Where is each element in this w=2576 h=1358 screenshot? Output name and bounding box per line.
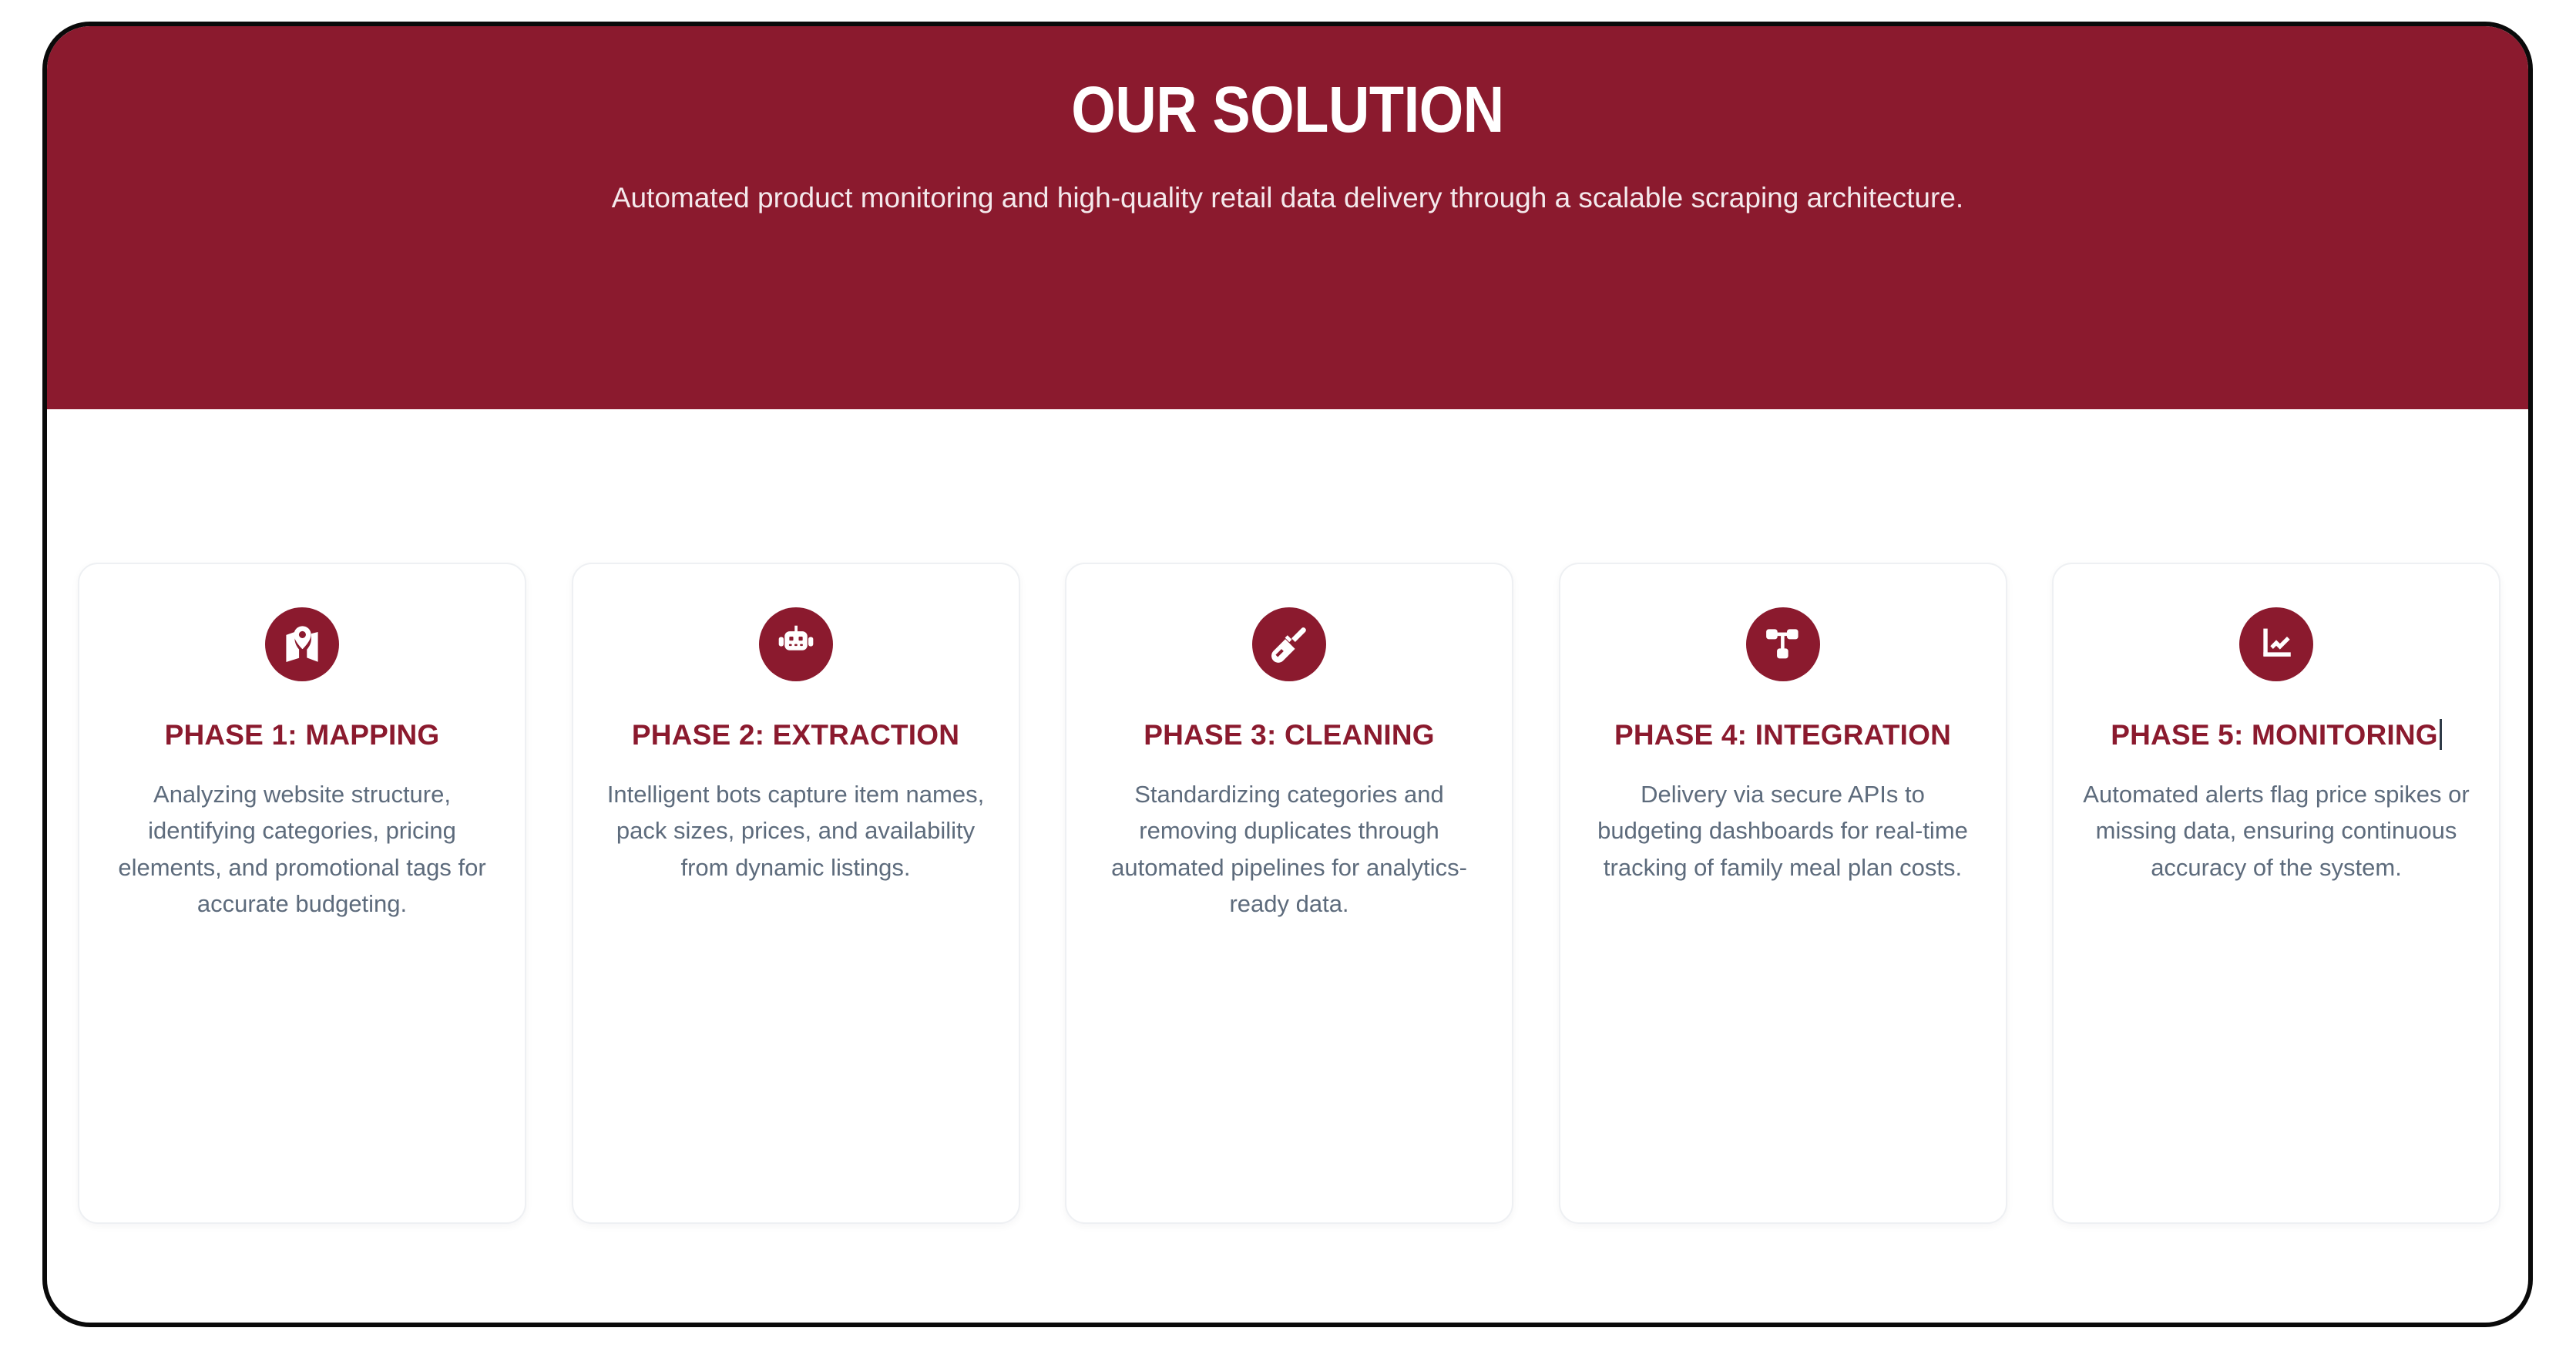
- phase-card-title-text: PHASE 3: CLEANING: [1144, 719, 1435, 751]
- phase-card-body: Delivery via secure APIs to budgeting da…: [1588, 776, 1978, 885]
- page-title: OUR SOLUTION: [196, 77, 2380, 143]
- phase-card-title-text: PHASE 4: INTEGRATION: [1614, 719, 1951, 751]
- phase-card-3[interactable]: PHASE 3: CLEANING Standardizing categori…: [1065, 563, 1513, 1224]
- phase-card-title: PHASE 3: CLEANING: [1144, 717, 1435, 753]
- line-chart-icon: [2239, 607, 2313, 681]
- phase-card-title: PHASE 1: MAPPING: [165, 717, 440, 753]
- phase-card-title-text: PHASE 5: MONITORING: [2111, 719, 2438, 751]
- phase-card-body: Analyzing website structure, identifying…: [107, 776, 497, 921]
- slide-frame: OUR SOLUTION Automated product monitorin…: [42, 22, 2533, 1327]
- phase-cards-row: PHASE 1: MAPPING Analyzing website struc…: [78, 563, 2500, 1224]
- phase-card-title: PHASE 4: INTEGRATION: [1614, 717, 1951, 753]
- phase-card-body: Intelligent bots capture item names, pac…: [601, 776, 991, 885]
- phase-card-body: Automated alerts flag price spikes or mi…: [2081, 776, 2471, 885]
- phase-card-title-text: PHASE 2: EXTRACTION: [632, 719, 959, 751]
- text-cursor: [2440, 719, 2442, 750]
- robot-icon: [759, 607, 833, 681]
- phase-card-4[interactable]: PHASE 4: INTEGRATION Delivery via secure…: [1559, 563, 2007, 1224]
- map-pin-icon: [265, 607, 339, 681]
- sitemap-icon: [1746, 607, 1820, 681]
- header-subtitle: Automated product monitoring and high-qu…: [448, 177, 2128, 219]
- phase-card-title: PHASE 2: EXTRACTION: [632, 717, 959, 753]
- broom-icon: [1252, 607, 1326, 681]
- phase-card-title: PHASE 5: MONITORING: [2111, 717, 2442, 753]
- slide-header: OUR SOLUTION Automated product monitorin…: [47, 26, 2528, 409]
- phase-card-2[interactable]: PHASE 2: EXTRACTION Intelligent bots cap…: [572, 563, 1020, 1224]
- phase-card-1[interactable]: PHASE 1: MAPPING Analyzing website struc…: [78, 563, 526, 1224]
- phase-card-5[interactable]: PHASE 5: MONITORING Automated alerts fla…: [2052, 563, 2500, 1224]
- phase-card-body: Standardizing categories and removing du…: [1094, 776, 1484, 921]
- phase-card-title-text: PHASE 1: MAPPING: [165, 719, 440, 751]
